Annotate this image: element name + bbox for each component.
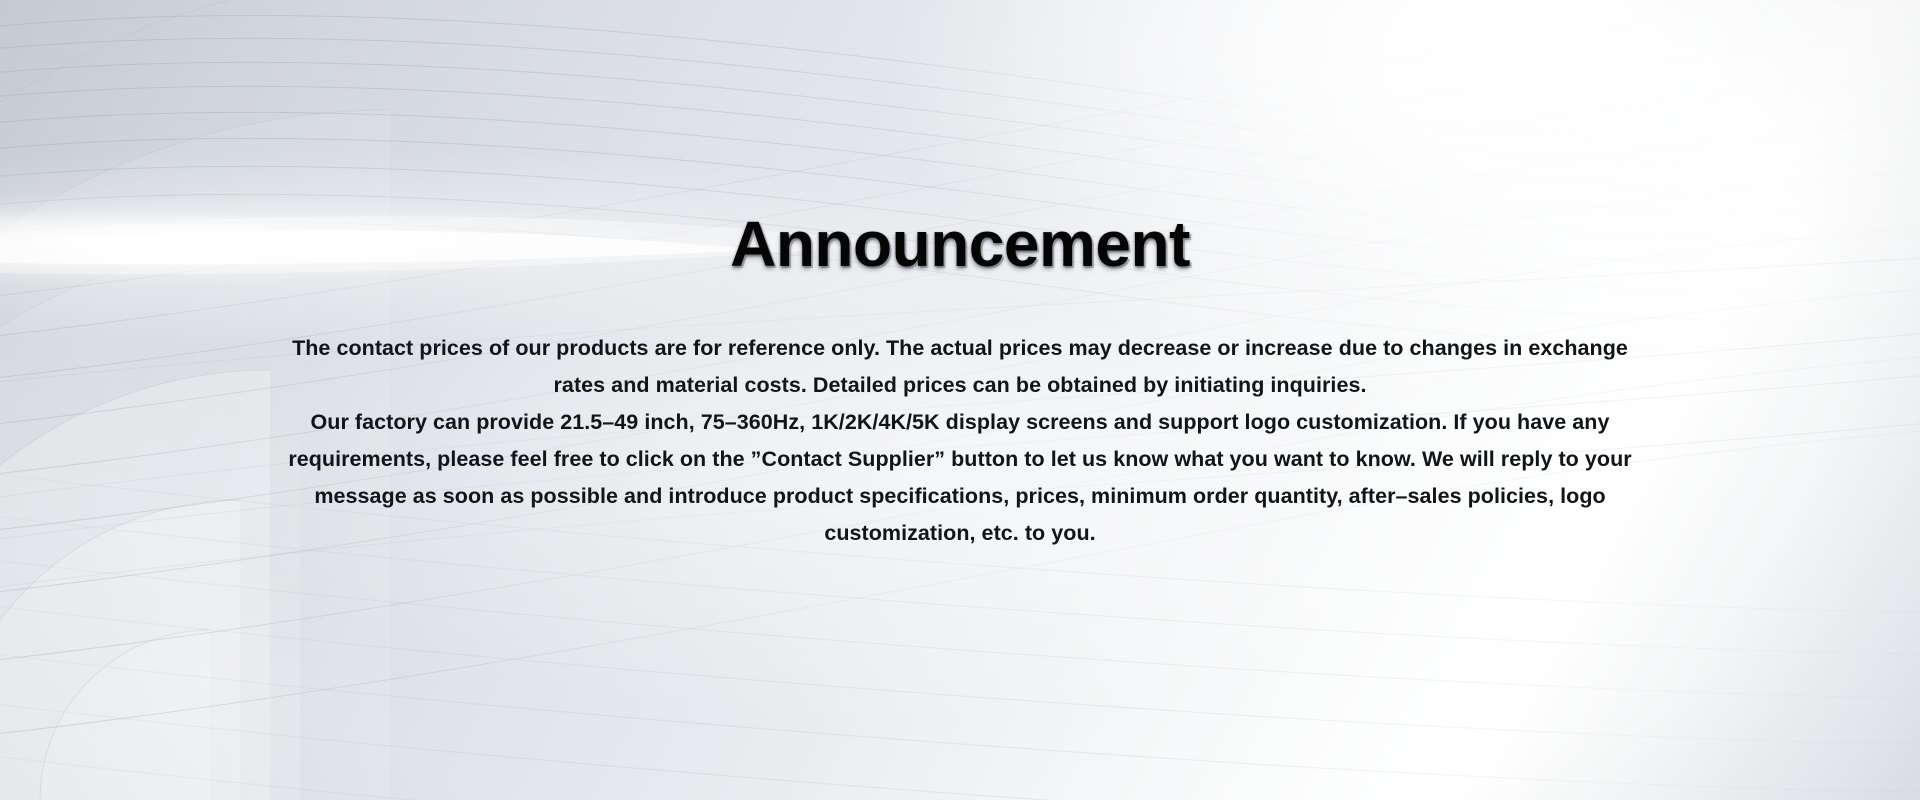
page-title: Announcement <box>0 206 1920 282</box>
announcement-paragraph-2: Our factory can provide 21.5–49 inch, 75… <box>280 404 1640 552</box>
announcement-paragraph-1: The contact prices of our products are f… <box>280 330 1640 404</box>
banner-content: Announcement The contact prices of our p… <box>0 0 1920 800</box>
announcement-banner: Announcement The contact prices of our p… <box>0 0 1920 800</box>
announcement-body: The contact prices of our products are f… <box>280 330 1640 552</box>
